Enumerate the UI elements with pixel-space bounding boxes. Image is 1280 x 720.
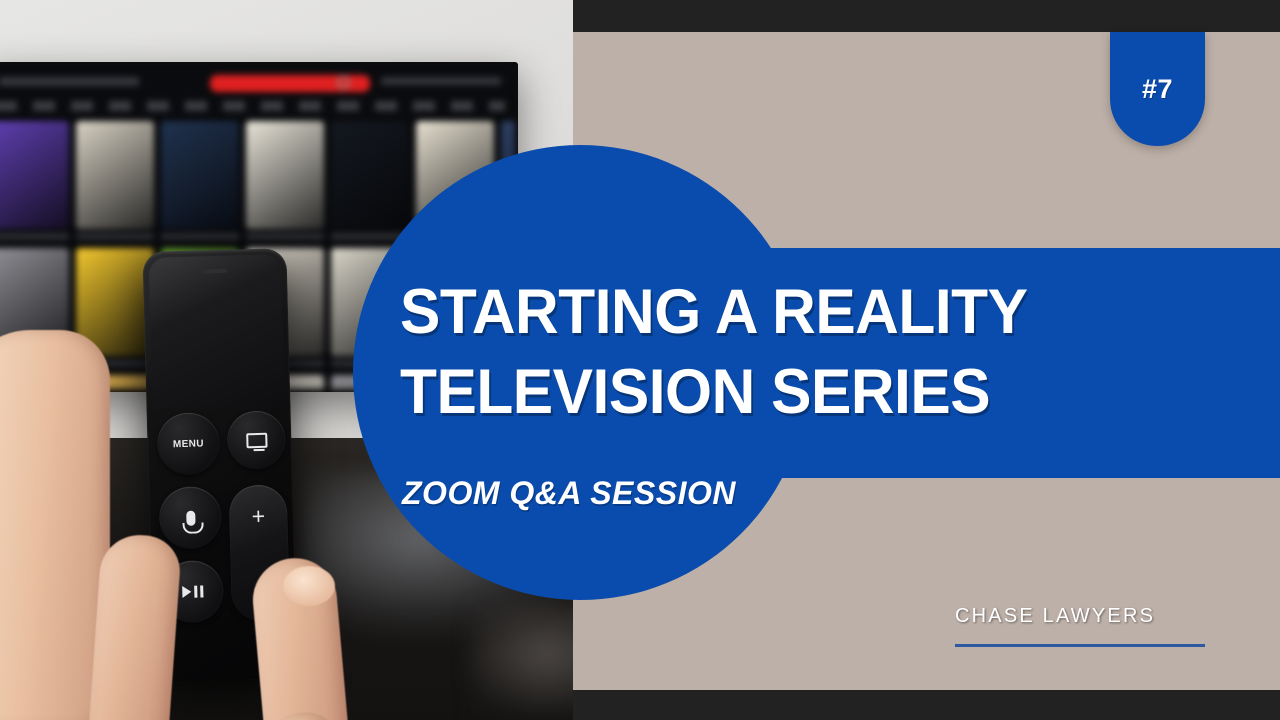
slide-canvas: MENU + − <box>0 0 1280 720</box>
brand-block: CHASE LAWYERS <box>955 605 1215 647</box>
page-title: STARTING A REALITY TELEVISION SERIES <box>400 272 1260 432</box>
episode-number-badge: #7 <box>1110 32 1205 146</box>
tv-topbar <box>0 65 515 119</box>
tv-tile <box>0 121 69 229</box>
episode-number-label: #7 <box>1142 74 1173 105</box>
tv-tile <box>246 121 324 229</box>
fingernail <box>283 566 335 606</box>
top-letterbox-bar <box>573 0 1280 32</box>
finger-index <box>88 532 182 720</box>
brand-rule <box>955 644 1205 647</box>
title-line-2: TELEVISION SERIES <box>400 352 1226 432</box>
tv-tile <box>331 121 409 229</box>
search-icon <box>337 76 350 89</box>
desk-object <box>470 600 573 720</box>
title-line-1: STARTING A REALITY <box>400 272 1226 352</box>
hand <box>0 330 330 720</box>
subtitle: ZOOM Q&A SESSION <box>402 475 736 512</box>
brand-name: CHASE LAWYERS <box>955 605 1215 628</box>
tv-tile <box>161 121 239 229</box>
tv-tile <box>76 121 154 229</box>
bottom-letterbox-bar <box>573 690 1280 720</box>
